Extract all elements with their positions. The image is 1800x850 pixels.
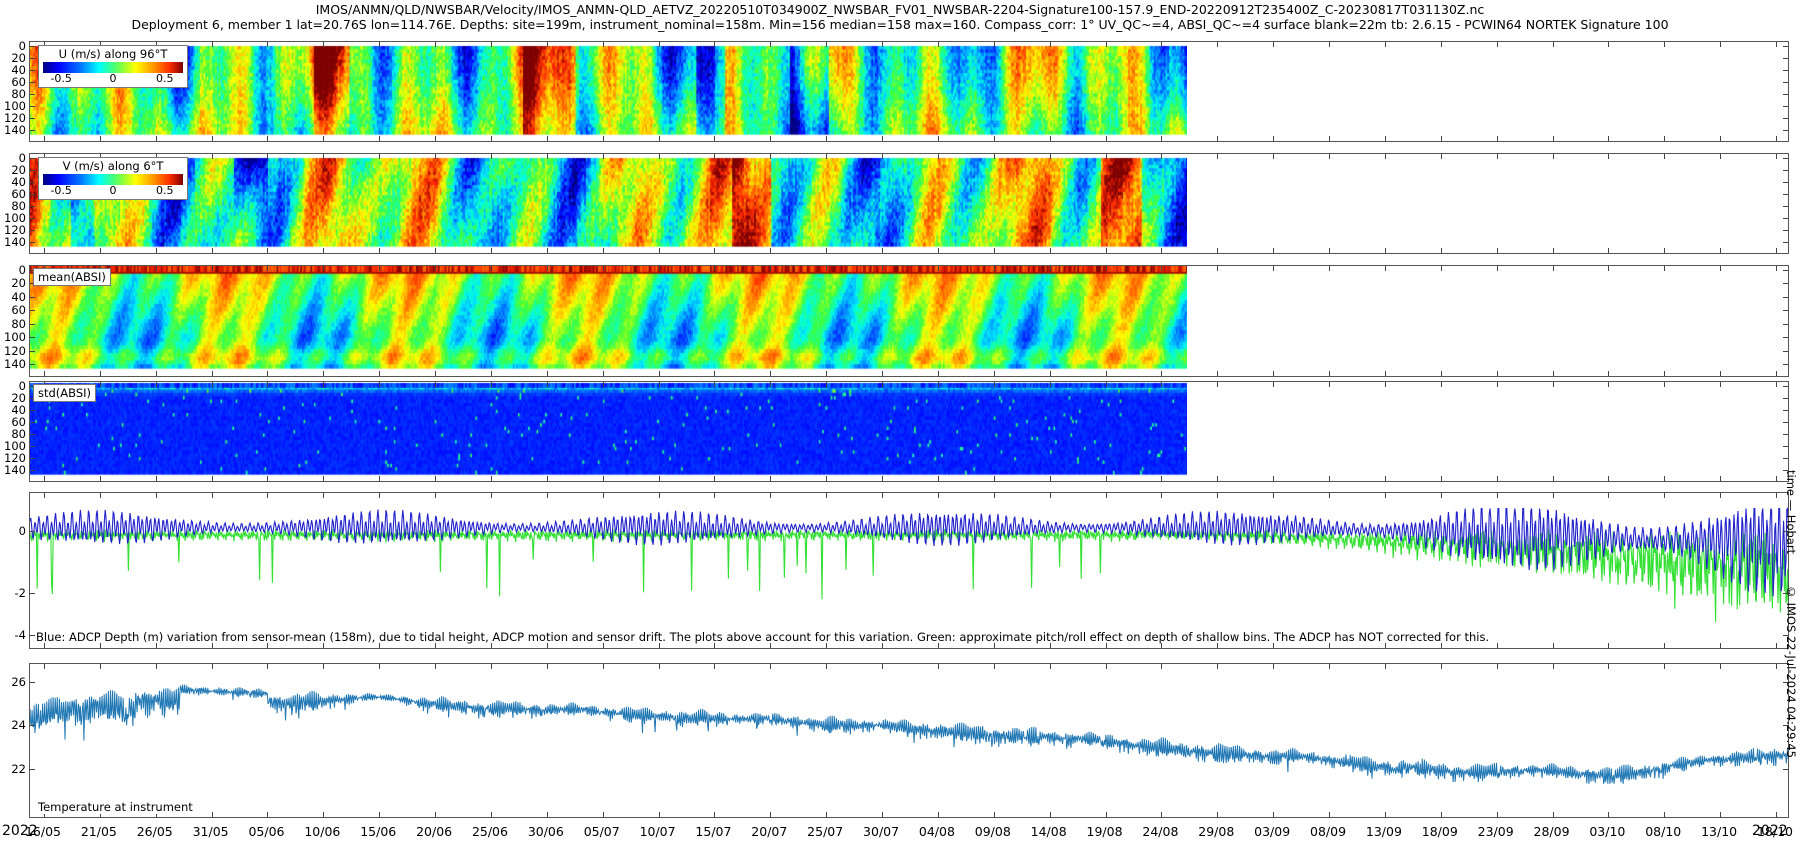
x-tick bbox=[1553, 476, 1554, 481]
x-tick-top bbox=[1608, 382, 1609, 387]
x-tick bbox=[1273, 136, 1274, 141]
y-tick-right bbox=[1783, 118, 1788, 119]
x-tick-top bbox=[938, 266, 939, 271]
x-tick bbox=[1050, 248, 1051, 253]
x-tick-top bbox=[770, 154, 771, 159]
x-tick bbox=[491, 812, 492, 817]
x-tick bbox=[1329, 371, 1330, 376]
x-tick bbox=[770, 812, 771, 817]
x-tick-top bbox=[323, 493, 324, 498]
x-tick bbox=[1608, 136, 1609, 141]
x-tick bbox=[882, 371, 883, 376]
y-tick bbox=[30, 94, 35, 95]
x-axis-tick-label: 14/08 bbox=[1031, 824, 1067, 839]
y-tick-right bbox=[1783, 351, 1788, 352]
x-tick-top bbox=[1217, 154, 1218, 159]
x-tick bbox=[1776, 476, 1777, 481]
heatmap-canvas bbox=[30, 266, 1187, 376]
x-tick bbox=[770, 476, 771, 481]
x-tick-top bbox=[491, 493, 492, 498]
x-tick bbox=[603, 476, 604, 481]
y-axis-label: 140 bbox=[4, 463, 26, 477]
x-tick-top bbox=[1050, 664, 1051, 669]
x-tick bbox=[547, 248, 548, 253]
y-tick-right bbox=[1783, 364, 1788, 365]
x-tick bbox=[938, 248, 939, 253]
x-tick bbox=[435, 248, 436, 253]
x-tick-top bbox=[547, 664, 548, 669]
x-axis-tick-label: 05/07 bbox=[584, 824, 620, 839]
x-tick-top bbox=[1217, 493, 1218, 498]
x-tick bbox=[826, 812, 827, 817]
x-tick bbox=[1329, 476, 1330, 481]
x-tick bbox=[1553, 136, 1554, 141]
y-tick bbox=[30, 531, 35, 532]
x-tick bbox=[547, 371, 548, 376]
colorbar-tick-label: 0.5 bbox=[156, 184, 174, 197]
x-tick-top bbox=[1441, 493, 1442, 498]
x-tick bbox=[1106, 812, 1107, 817]
x-axis-tick-label: 03/10 bbox=[1589, 824, 1625, 839]
x-tick bbox=[1441, 812, 1442, 817]
y-tick-right bbox=[1783, 158, 1788, 159]
x-tick-top bbox=[1664, 493, 1665, 498]
y-tick-right bbox=[1783, 410, 1788, 411]
x-tick bbox=[1217, 371, 1218, 376]
temperature-line bbox=[30, 664, 1788, 817]
x-tick-top bbox=[1553, 493, 1554, 498]
x-axis-tick-label: 28/09 bbox=[1534, 824, 1570, 839]
x-tick-top bbox=[1161, 382, 1162, 387]
x-axis-tick-label: 20/07 bbox=[751, 824, 787, 839]
x-tick-top bbox=[212, 42, 213, 47]
x-tick bbox=[1664, 476, 1665, 481]
y-tick bbox=[30, 446, 35, 447]
x-tick-top bbox=[1776, 266, 1777, 271]
x-tick-top bbox=[1273, 664, 1274, 669]
x-tick-top bbox=[1385, 493, 1386, 498]
x-tick bbox=[1776, 248, 1777, 253]
x-tick-top bbox=[1776, 382, 1777, 387]
y-axis-label: 40 bbox=[11, 290, 26, 304]
figure-titles: IMOS/ANMN/QLD/NWSBAR/Velocity/IMOS_ANMN-… bbox=[0, 2, 1800, 32]
x-tick bbox=[44, 248, 45, 253]
temperature-inset-label: Temperature at instrument bbox=[36, 800, 195, 814]
x-axis-tick-label: 19/08 bbox=[1087, 824, 1123, 839]
x-tick bbox=[1217, 136, 1218, 141]
panel-u-velocity[interactable]: 020406080100120140U (m/s) along 96°T-0.5… bbox=[29, 41, 1789, 142]
adcp-depth-caption: Blue: ADCP Depth (m) variation from sens… bbox=[36, 630, 1489, 644]
x-tick-top bbox=[156, 266, 157, 271]
x-axis-tick-label: 31/05 bbox=[193, 824, 229, 839]
x-tick bbox=[1385, 812, 1386, 817]
x-tick-top bbox=[770, 664, 771, 669]
x-tick bbox=[323, 812, 324, 817]
x-tick bbox=[1050, 476, 1051, 481]
heatmap-canvas bbox=[30, 154, 1187, 253]
x-tick-top bbox=[1273, 493, 1274, 498]
x-tick bbox=[212, 371, 213, 376]
y-axis-label: 80 bbox=[11, 317, 26, 331]
x-tick bbox=[1664, 643, 1665, 648]
x-tick-top bbox=[603, 664, 604, 669]
y-tick-right bbox=[1783, 230, 1788, 231]
x-tick-top bbox=[491, 42, 492, 47]
x-tick bbox=[1497, 812, 1498, 817]
y-tick bbox=[30, 364, 35, 365]
x-axis-tick-label: 03/09 bbox=[1254, 824, 1290, 839]
x-tick-top bbox=[882, 664, 883, 669]
x-tick-top bbox=[212, 664, 213, 669]
x-tick bbox=[1273, 476, 1274, 481]
x-tick-top bbox=[491, 664, 492, 669]
x-tick-top bbox=[1273, 154, 1274, 159]
colorbar-ticks: -0.500.5 bbox=[43, 185, 183, 198]
y-axis-label: 24 bbox=[11, 718, 26, 732]
x-tick-top bbox=[826, 154, 827, 159]
x-tick-top bbox=[994, 382, 995, 387]
x-tick bbox=[1441, 371, 1442, 376]
x-tick bbox=[1553, 371, 1554, 376]
x-tick-top bbox=[267, 266, 268, 271]
x-tick-top bbox=[1050, 382, 1051, 387]
x-tick-top bbox=[323, 382, 324, 387]
y-tick bbox=[30, 82, 35, 83]
x-tick-top bbox=[1050, 42, 1051, 47]
x-tick-top bbox=[1441, 664, 1442, 669]
panel-temperature[interactable]: 262422Temperature at instrument bbox=[29, 663, 1789, 818]
x-tick-top bbox=[714, 42, 715, 47]
x-tick bbox=[714, 136, 715, 141]
x-tick-top bbox=[603, 154, 604, 159]
line-series bbox=[30, 685, 1788, 784]
x-tick-top bbox=[1385, 664, 1386, 669]
x-tick-top bbox=[1441, 42, 1442, 47]
x-tick-top bbox=[603, 266, 604, 271]
x-tick bbox=[1553, 643, 1554, 648]
x-tick-top bbox=[1664, 664, 1665, 669]
x-tick-top bbox=[714, 493, 715, 498]
x-tick-top bbox=[1329, 664, 1330, 669]
x-tick bbox=[882, 476, 883, 481]
y-tick-right bbox=[1783, 170, 1788, 171]
panel-inset-label[interactable]: mean(ABSI) bbox=[33, 268, 111, 286]
x-tick-top bbox=[1385, 382, 1386, 387]
x-axis-tick-label: 15/07 bbox=[695, 824, 731, 839]
y-tick-right bbox=[1783, 386, 1788, 387]
x-tick bbox=[1441, 476, 1442, 481]
y-tick-right bbox=[1783, 446, 1788, 447]
x-tick bbox=[44, 136, 45, 141]
x-tick bbox=[1720, 643, 1721, 648]
y-tick-right bbox=[1783, 458, 1788, 459]
x-tick-top bbox=[1050, 493, 1051, 498]
x-tick bbox=[938, 371, 939, 376]
x-tick-top bbox=[938, 382, 939, 387]
x-tick bbox=[435, 371, 436, 376]
x-tick-top bbox=[1329, 382, 1330, 387]
x-tick bbox=[994, 136, 995, 141]
x-tick bbox=[1106, 371, 1107, 376]
x-tick bbox=[323, 136, 324, 141]
y-tick-right bbox=[1783, 82, 1788, 83]
x-tick bbox=[1776, 812, 1777, 817]
x-tick bbox=[435, 476, 436, 481]
y-axis-label: 140 bbox=[4, 123, 26, 137]
y-tick-right bbox=[1783, 242, 1788, 243]
colorbar-tick-label: 0.5 bbox=[156, 72, 174, 85]
x-tick-top bbox=[212, 266, 213, 271]
y-tick bbox=[30, 470, 35, 471]
x-tick-top bbox=[1497, 382, 1498, 387]
x-tick-top bbox=[156, 382, 157, 387]
x-tick-top bbox=[1273, 42, 1274, 47]
x-tick-top bbox=[938, 664, 939, 669]
x-tick-top bbox=[435, 266, 436, 271]
x-tick bbox=[1385, 476, 1386, 481]
y-tick-right bbox=[1783, 194, 1788, 195]
y-tick-right bbox=[1783, 218, 1788, 219]
x-tick bbox=[1608, 371, 1609, 376]
y-tick bbox=[30, 310, 35, 311]
y-tick-right bbox=[1783, 94, 1788, 95]
x-tick-top bbox=[1441, 154, 1442, 159]
x-tick bbox=[938, 476, 939, 481]
x-tick bbox=[714, 476, 715, 481]
y-axis-label: -4 bbox=[15, 628, 26, 642]
x-tick bbox=[267, 371, 268, 376]
x-tick bbox=[1664, 371, 1665, 376]
x-tick bbox=[770, 136, 771, 141]
x-tick bbox=[1497, 248, 1498, 253]
colorbar-tick-label: 0 bbox=[110, 72, 117, 85]
x-tick bbox=[1776, 371, 1777, 376]
x-tick bbox=[1553, 248, 1554, 253]
x-tick bbox=[1664, 136, 1665, 141]
x-tick-top bbox=[659, 664, 660, 669]
heatmap-canvas bbox=[30, 382, 1187, 481]
x-tick-top bbox=[491, 154, 492, 159]
x-tick-top bbox=[547, 42, 548, 47]
y-axis-label: 140 bbox=[4, 235, 26, 249]
x-tick bbox=[938, 136, 939, 141]
x-axis-tick-label: 15/06 bbox=[360, 824, 396, 839]
x-tick-top bbox=[435, 42, 436, 47]
x-tick-top bbox=[994, 266, 995, 271]
y-tick bbox=[30, 118, 35, 119]
x-axis-tick-label: 20/06 bbox=[416, 824, 452, 839]
colorbar-ticks: -0.500.5 bbox=[43, 73, 183, 86]
x-tick-top bbox=[1441, 382, 1442, 387]
x-axis-year-left: 2022 bbox=[2, 823, 38, 839]
x-tick bbox=[1553, 812, 1554, 817]
x-tick bbox=[267, 812, 268, 817]
x-tick bbox=[659, 371, 660, 376]
x-tick-top bbox=[267, 382, 268, 387]
colorbar-title: U (m/s) along 96°T bbox=[43, 48, 183, 61]
x-axis-tick-label: 29/08 bbox=[1198, 824, 1234, 839]
x-tick-top bbox=[1385, 154, 1386, 159]
x-tick bbox=[156, 248, 157, 253]
x-tick-top bbox=[938, 493, 939, 498]
y-tick bbox=[30, 410, 35, 411]
y-tick bbox=[30, 351, 35, 352]
x-tick-top bbox=[379, 382, 380, 387]
x-tick-top bbox=[1776, 493, 1777, 498]
x-tick-top bbox=[1553, 266, 1554, 271]
x-tick bbox=[547, 476, 548, 481]
x-tick-top bbox=[547, 266, 548, 271]
x-tick bbox=[1720, 476, 1721, 481]
x-tick bbox=[323, 371, 324, 376]
x-tick bbox=[826, 371, 827, 376]
x-tick bbox=[1329, 136, 1330, 141]
y-tick-right bbox=[1783, 434, 1788, 435]
x-tick-top bbox=[714, 382, 715, 387]
x-tick-top bbox=[1161, 154, 1162, 159]
x-axis-tick-label: 09/08 bbox=[975, 824, 1011, 839]
panel-inset-label[interactable]: std(ABSI) bbox=[33, 384, 96, 402]
x-tick-top bbox=[435, 382, 436, 387]
y-axis-label: 0 bbox=[19, 263, 26, 277]
x-tick-top bbox=[826, 266, 827, 271]
x-tick-top bbox=[882, 154, 883, 159]
x-tick bbox=[603, 812, 604, 817]
x-tick bbox=[212, 812, 213, 817]
x-tick-top bbox=[882, 493, 883, 498]
x-tick bbox=[1161, 248, 1162, 253]
y-tick bbox=[30, 230, 35, 231]
y-tick bbox=[30, 206, 35, 207]
x-tick-top bbox=[212, 154, 213, 159]
panel-std-absi[interactable]: 020406080100120140std(ABSI) bbox=[29, 381, 1789, 482]
y-tick-right bbox=[1783, 58, 1788, 59]
x-tick-top bbox=[882, 266, 883, 271]
x-tick bbox=[323, 248, 324, 253]
x-tick bbox=[156, 476, 157, 481]
x-tick-top bbox=[1720, 266, 1721, 271]
x-axis-tick-label: 26/05 bbox=[137, 824, 173, 839]
x-tick-top bbox=[267, 664, 268, 669]
x-tick-top bbox=[1720, 493, 1721, 498]
x-tick-top bbox=[323, 664, 324, 669]
x-tick bbox=[1608, 248, 1609, 253]
x-tick bbox=[1720, 136, 1721, 141]
colorbar-tick-label: -0.5 bbox=[50, 72, 71, 85]
y-tick-right bbox=[1783, 206, 1788, 207]
x-tick bbox=[659, 476, 660, 481]
x-tick-top bbox=[1441, 266, 1442, 271]
y-tick bbox=[30, 70, 35, 71]
panel-adcp-depth[interactable]: 0-2-4Blue: ADCP Depth (m) variation from… bbox=[29, 492, 1789, 649]
x-tick-top bbox=[435, 493, 436, 498]
x-tick-top bbox=[994, 42, 995, 47]
x-tick-top bbox=[1608, 266, 1609, 271]
x-tick-top bbox=[1720, 42, 1721, 47]
x-tick-top bbox=[1553, 42, 1554, 47]
y-tick bbox=[30, 106, 35, 107]
x-tick-top bbox=[1608, 493, 1609, 498]
x-axis-tick-label: 08/10 bbox=[1645, 824, 1681, 839]
x-tick-top bbox=[994, 664, 995, 669]
x-tick bbox=[379, 812, 380, 817]
y-axis-label: 22 bbox=[11, 762, 26, 776]
x-axis-tick-label: 13/09 bbox=[1366, 824, 1402, 839]
x-tick-top bbox=[491, 382, 492, 387]
x-tick bbox=[1273, 371, 1274, 376]
x-tick bbox=[770, 371, 771, 376]
x-tick-top bbox=[1161, 42, 1162, 47]
y-tick-right bbox=[1783, 297, 1788, 298]
x-tick bbox=[1161, 812, 1162, 817]
x-tick-top bbox=[547, 382, 548, 387]
x-tick-top bbox=[1050, 154, 1051, 159]
adcp-depth-lines bbox=[30, 493, 1788, 648]
x-tick-top bbox=[100, 664, 101, 669]
x-tick bbox=[659, 248, 660, 253]
y-tick bbox=[30, 337, 35, 338]
title-line-2: Deployment 6, member 1 lat=20.76S lon=11… bbox=[0, 17, 1800, 32]
x-tick-top bbox=[770, 493, 771, 498]
x-tick bbox=[100, 136, 101, 141]
x-tick bbox=[994, 812, 995, 817]
x-tick-top bbox=[379, 493, 380, 498]
y-tick bbox=[30, 158, 35, 159]
x-tick bbox=[1050, 812, 1051, 817]
x-tick-top bbox=[1497, 493, 1498, 498]
x-tick-top bbox=[323, 266, 324, 271]
x-tick bbox=[435, 812, 436, 817]
x-tick bbox=[156, 371, 157, 376]
panel-v-velocity[interactable]: 020406080100120140V (m/s) along 6°T-0.50… bbox=[29, 153, 1789, 254]
x-tick bbox=[379, 248, 380, 253]
x-tick-top bbox=[212, 493, 213, 498]
x-tick bbox=[100, 476, 101, 481]
x-tick-top bbox=[826, 382, 827, 387]
x-tick bbox=[44, 476, 45, 481]
x-tick-top bbox=[1385, 42, 1386, 47]
x-axis-tick-label: 25/07 bbox=[807, 824, 843, 839]
colorbar-legend[interactable]: U (m/s) along 96°T-0.500.5 bbox=[38, 45, 188, 88]
x-tick-top bbox=[212, 382, 213, 387]
y-tick-right bbox=[1783, 130, 1788, 131]
x-axis-year-right: 2022 bbox=[1752, 823, 1788, 839]
y-tick-right bbox=[1783, 769, 1788, 770]
x-tick bbox=[212, 476, 213, 481]
panel-mean-absi[interactable]: 020406080100120140mean(ABSI) bbox=[29, 265, 1789, 377]
x-tick-top bbox=[323, 42, 324, 47]
y-axis-label: 140 bbox=[4, 357, 26, 371]
x-tick-top bbox=[1608, 42, 1609, 47]
x-tick-top bbox=[882, 42, 883, 47]
x-axis-tick-label: 23/09 bbox=[1478, 824, 1514, 839]
x-tick-top bbox=[1329, 493, 1330, 498]
x-tick bbox=[882, 136, 883, 141]
y-tick bbox=[30, 58, 35, 59]
x-tick-top bbox=[1273, 382, 1274, 387]
x-axis-tick-label: 10/07 bbox=[640, 824, 676, 839]
y-axis-label: 20 bbox=[11, 276, 26, 290]
x-tick bbox=[379, 136, 380, 141]
x-tick bbox=[1273, 812, 1274, 817]
x-tick-top bbox=[1608, 154, 1609, 159]
colorbar-legend[interactable]: V (m/s) along 6°T-0.500.5 bbox=[38, 157, 188, 200]
line-series bbox=[30, 509, 1788, 597]
y-tick-right bbox=[1783, 106, 1788, 107]
y-tick bbox=[30, 769, 35, 770]
x-tick-top bbox=[603, 382, 604, 387]
x-tick bbox=[1720, 248, 1721, 253]
